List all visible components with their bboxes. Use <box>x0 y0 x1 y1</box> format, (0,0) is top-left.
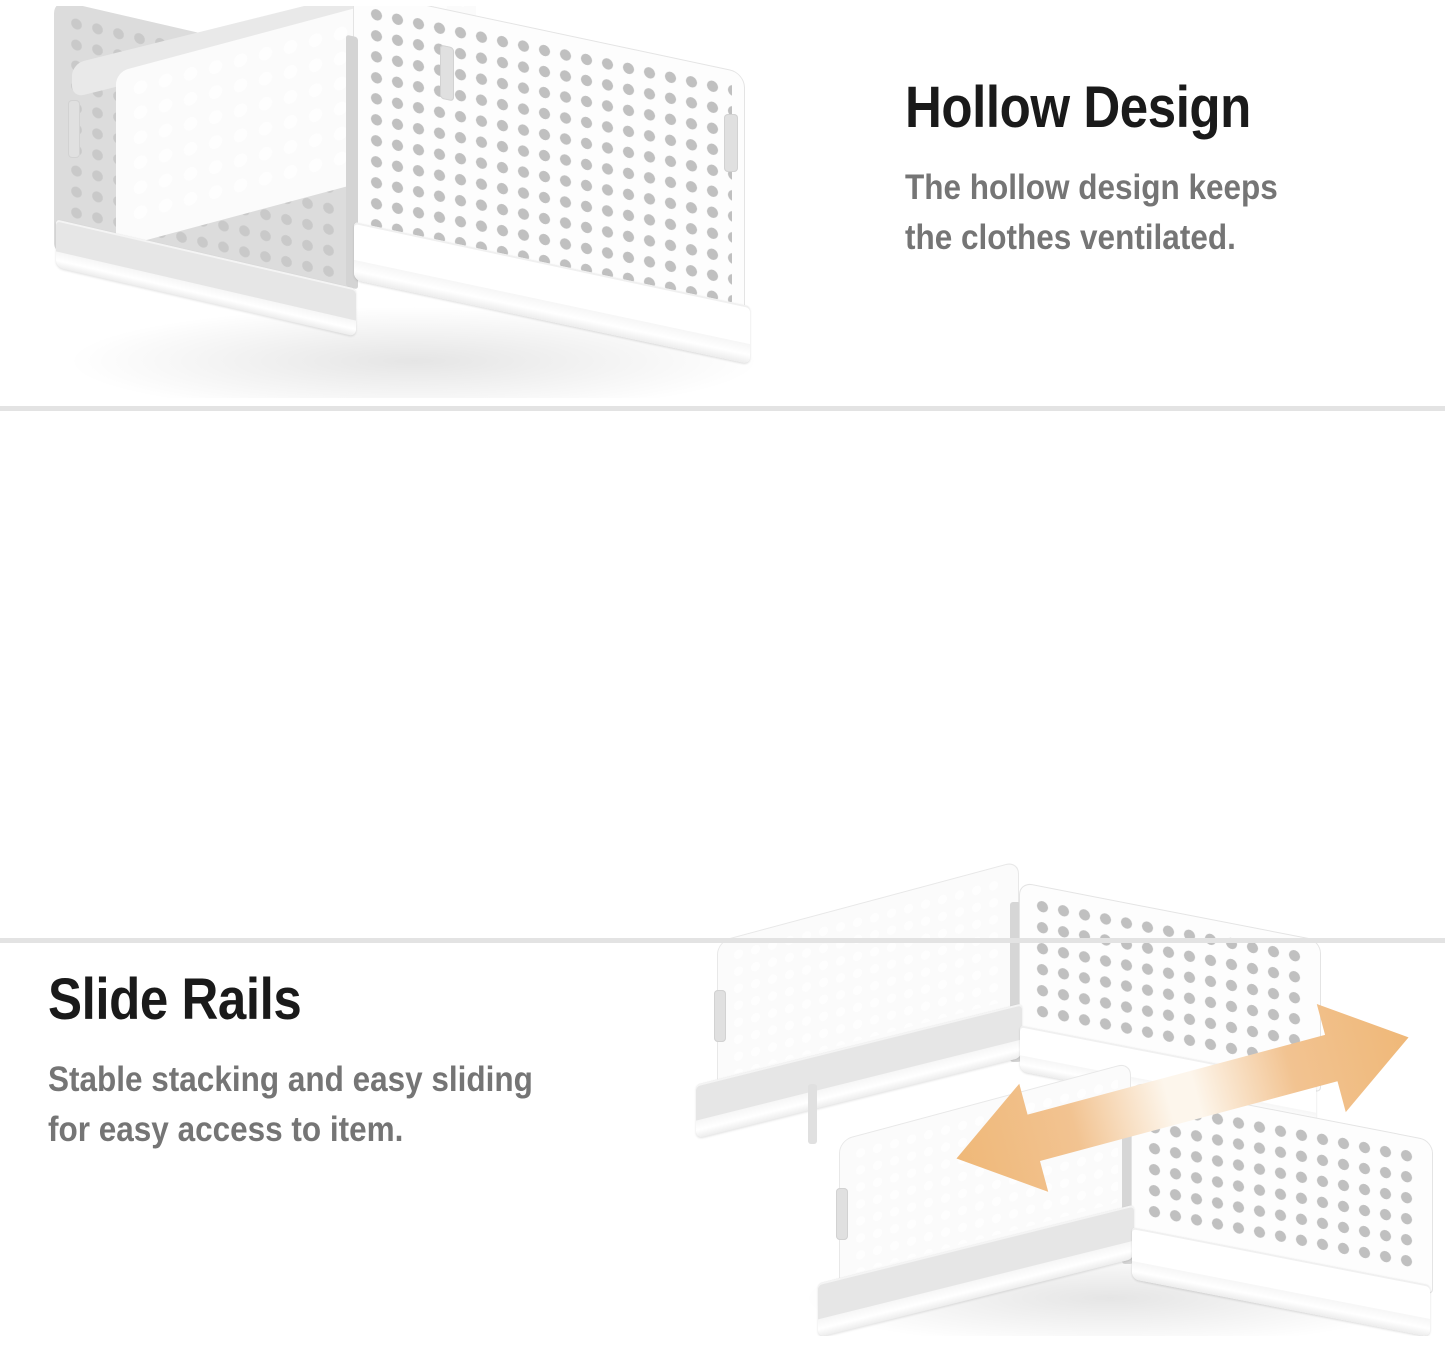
panel-1-body: The hollow design keeps the clothes vent… <box>905 163 1391 262</box>
feature-panel-slide-rails: Slide Rails Stable stacking and easy sli… <box>0 414 1445 938</box>
panel-1-heading: Hollow Design <box>905 78 1380 139</box>
feature-panel-reinforced-snap: Reinforced Snap Reinforced buckles to in… <box>0 944 1445 1358</box>
basket-hinge-tab <box>440 45 454 102</box>
basket-buckle-left <box>68 100 80 158</box>
panel-divider-2 <box>0 938 1445 943</box>
product-image-hollow-design <box>24 6 814 398</box>
panel-1-body-line-1: The hollow design keeps <box>905 163 1391 213</box>
basket-buckle-right <box>724 114 738 172</box>
panel-divider-1 <box>0 406 1445 411</box>
feature-panel-hollow-design: Hollow Design The hollow design keeps th… <box>0 0 1445 406</box>
feature-text-hollow-design: Hollow Design The hollow design keeps th… <box>905 78 1445 262</box>
product-feature-infographic: Hollow Design The hollow design keeps th… <box>0 0 1445 1358</box>
panel-1-body-line-2: the clothes ventilated. <box>905 213 1391 263</box>
